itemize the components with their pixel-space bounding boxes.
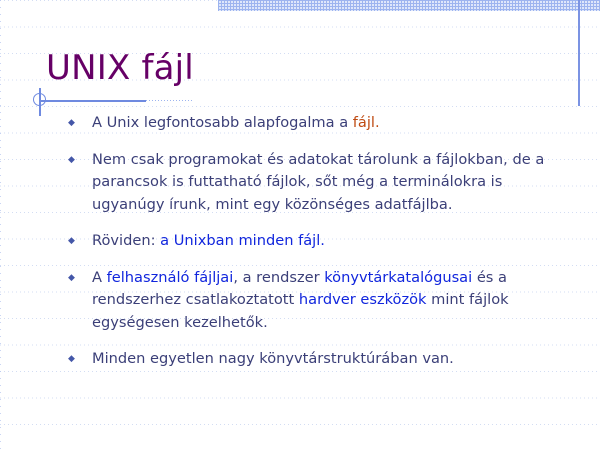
list-item: ◆A Unix legfontosabb alapfogalma a fájl.: [68, 112, 578, 135]
list-item-text: Röviden: a Unixban minden fájl.: [92, 230, 578, 253]
circle-ornament-icon: [33, 93, 46, 106]
list-item: ◆Nem csak programokat és adatokat tárolu…: [68, 149, 578, 217]
title-ornament-stem: [39, 88, 41, 116]
text-run: Minden egyetlen nagy könyvtárstruktúrába…: [92, 350, 454, 367]
slide-canvas: UNIX fájl ◆A Unix legfontosabb alapfogal…: [0, 0, 600, 450]
text-run: Nem csak programokat és adatokat tárolun…: [92, 151, 544, 213]
list-item-text: A felhasználó fájljai, a rendszer könyvt…: [92, 267, 578, 335]
bullet-list: ◆A Unix legfontosabb alapfogalma a fájl.…: [68, 112, 578, 385]
text-run: A Unix legfontosabb alapfogalma a: [92, 114, 353, 131]
top-banner-decoration: [218, 0, 600, 11]
text-run: könyvtárkatalógusai: [324, 269, 472, 286]
list-item: ◆A felhasználó fájljai, a rendszer könyv…: [68, 267, 578, 335]
right-vertical-rule-decoration: [578, 0, 580, 106]
page-title: UNIX fájl: [46, 48, 194, 88]
text-run: A: [92, 269, 107, 286]
title-underline-rule: [40, 100, 146, 102]
text-run: felhasználó fájljai: [107, 269, 234, 286]
text-run: a Unixban minden fájl.: [160, 232, 325, 249]
bullet-diamond-icon: ◆: [68, 119, 78, 128]
bullet-diamond-icon: ◆: [68, 274, 78, 283]
text-run: Röviden:: [92, 232, 160, 249]
list-item-text: A Unix legfontosabb alapfogalma a fájl.: [92, 112, 578, 135]
list-item: ◆Röviden: a Unixban minden fájl.: [68, 230, 578, 253]
list-item-text: Minden egyetlen nagy könyvtárstruktúrába…: [92, 348, 578, 371]
list-item: ◆Minden egyetlen nagy könyvtárstruktúráb…: [68, 348, 578, 371]
title-underline-rule-faint: [146, 100, 192, 101]
text-run: , a rendszer: [233, 269, 324, 286]
list-item-text: Nem csak programokat és adatokat tárolun…: [92, 149, 578, 217]
bullet-diamond-icon: ◆: [68, 156, 78, 165]
text-run: hardver eszközök: [299, 291, 427, 308]
bullet-diamond-icon: ◆: [68, 237, 78, 246]
bullet-diamond-icon: ◆: [68, 355, 78, 364]
text-run: fájl.: [353, 114, 380, 131]
